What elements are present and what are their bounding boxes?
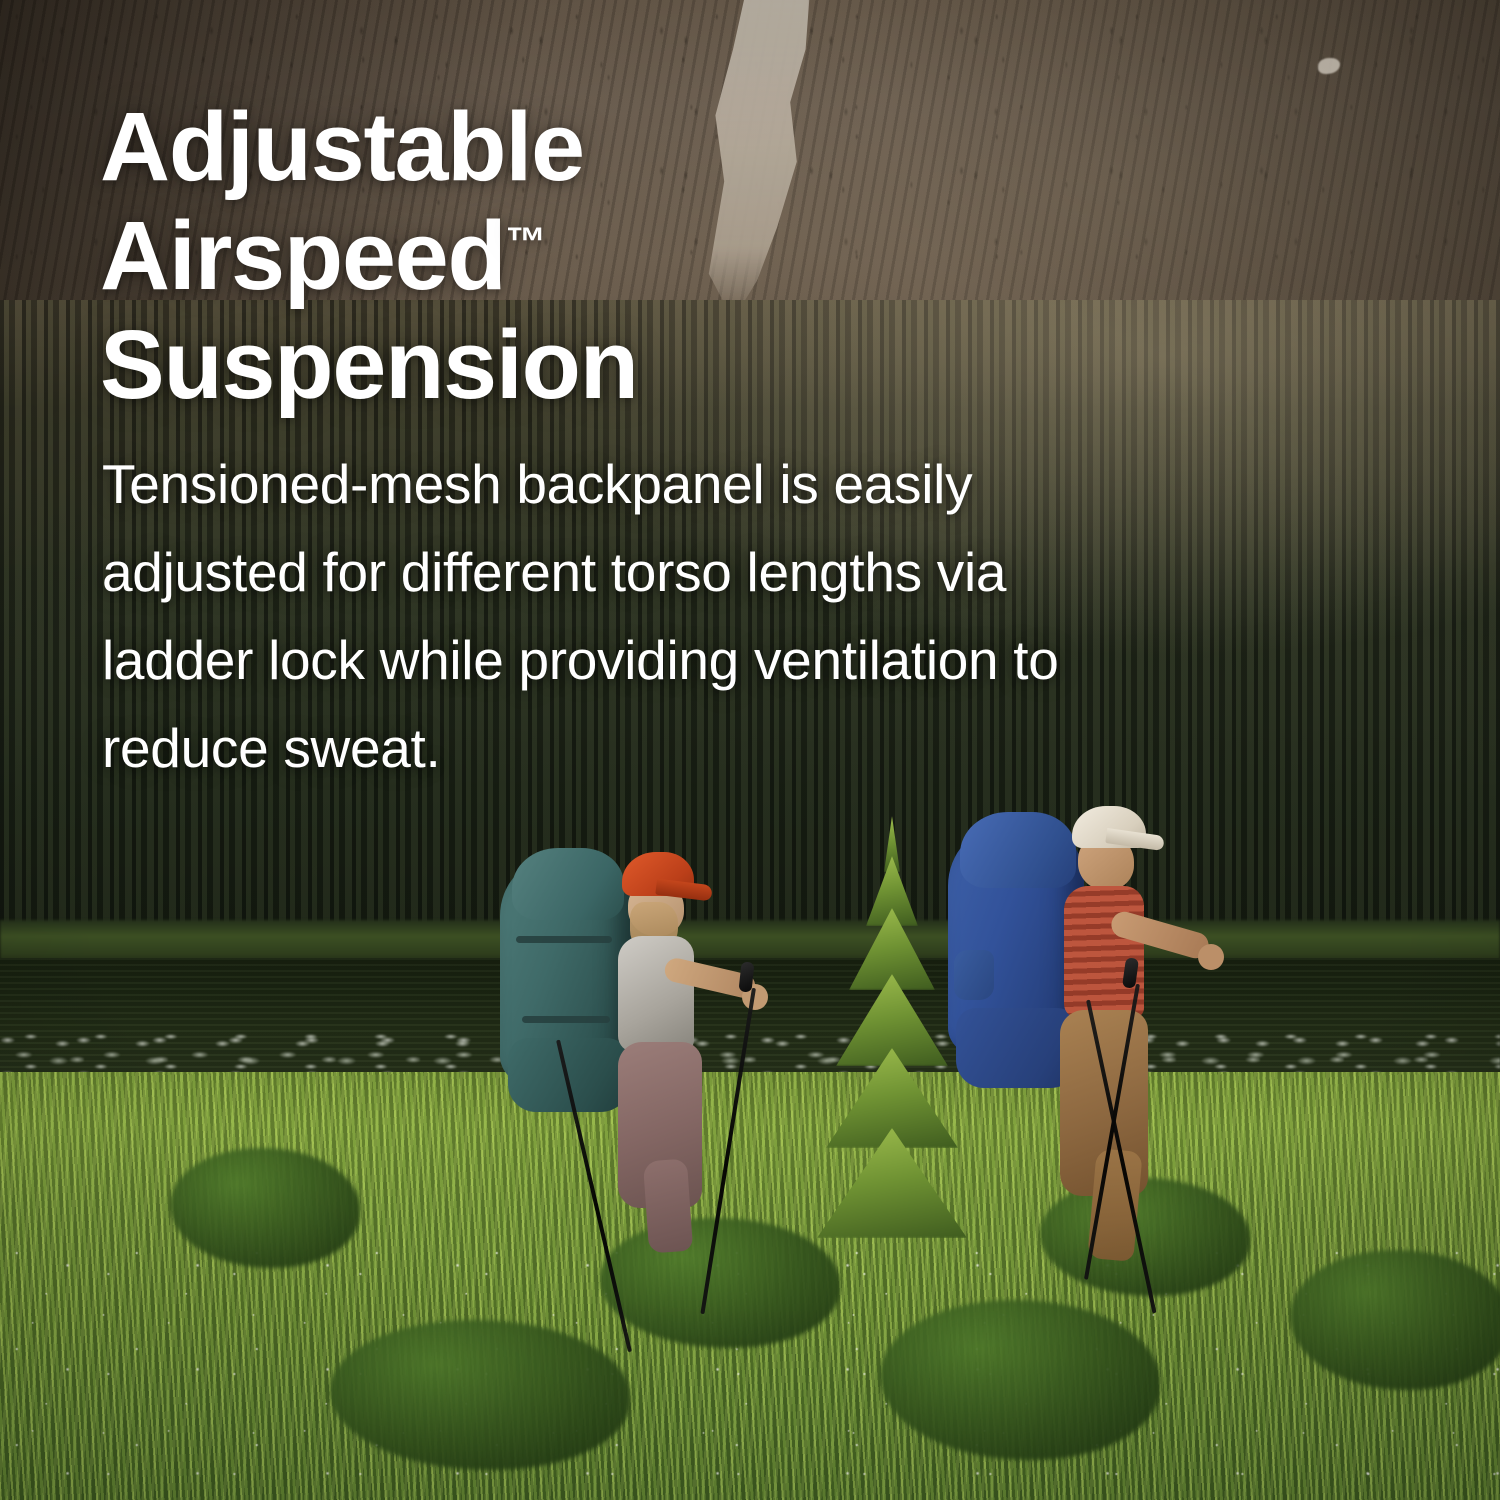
product-feature-banner: AdjustableAirspeed™Suspension Tensioned-… xyxy=(0,0,1500,1500)
leg xyxy=(1087,1148,1142,1262)
compression-strap xyxy=(522,1016,610,1023)
compression-strap xyxy=(516,936,612,943)
gray-tshirt xyxy=(618,936,694,1052)
hand xyxy=(1198,944,1224,970)
hiker-man xyxy=(930,800,1230,1270)
striped-red-shirt xyxy=(1064,886,1144,1018)
backpack-lid xyxy=(960,812,1076,888)
hiker-woman xyxy=(478,840,778,1270)
backpack-lid xyxy=(512,848,624,920)
leg xyxy=(643,1159,693,1254)
backpack-pocket xyxy=(954,950,994,1000)
